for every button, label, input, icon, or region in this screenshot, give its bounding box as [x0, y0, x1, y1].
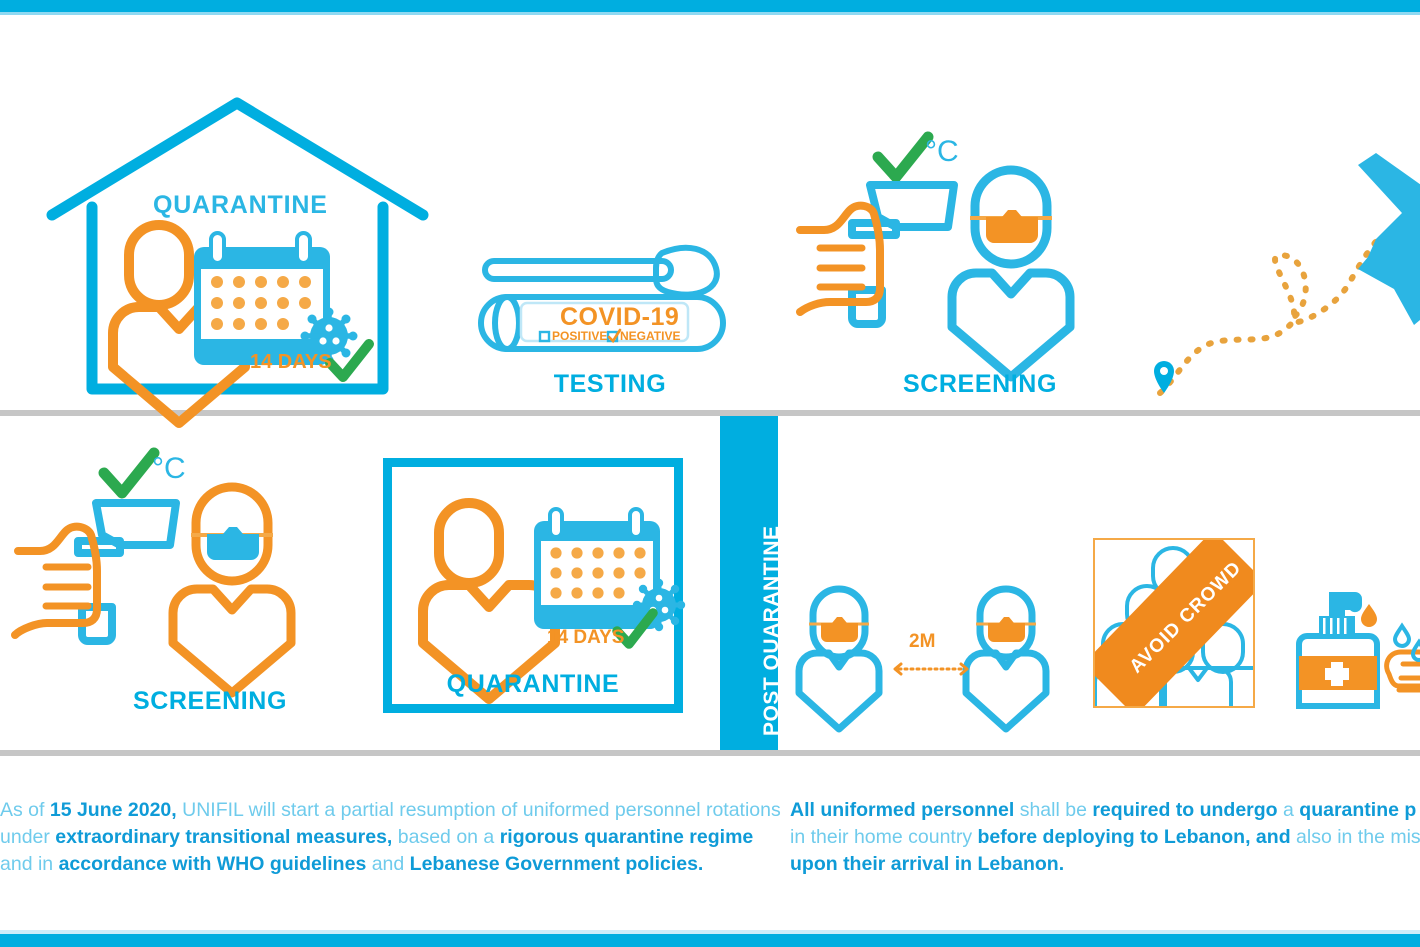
celsius-label-bottom: °C — [152, 452, 186, 486]
sanitizer-bottle-icon — [1299, 592, 1377, 706]
bottom-brand-bar — [0, 934, 1420, 947]
check-icon — [878, 137, 928, 177]
thermometer-gun-icon — [15, 503, 176, 641]
paragraph-line: in their home country before deploying t… — [790, 824, 1420, 851]
hygiene-group — [1285, 578, 1420, 708]
text-regular: shall be — [1014, 799, 1092, 821]
paragraph-line: under extraordinary transitional measure… — [0, 824, 781, 851]
text-regular: UNIFIL will start a partial resumption o… — [177, 799, 781, 821]
quarantine-house-group: QUARANTINE 14 DAYS — [45, 95, 435, 395]
face-mask-icon — [207, 527, 259, 560]
text-strong: upon their arrival in Lebanon. — [790, 853, 1064, 875]
celsius-label: °C — [925, 135, 959, 169]
house-days-label: 14 DAYS — [250, 351, 332, 374]
dotted-flight-path-icon — [1160, 235, 1382, 393]
calendar-icon — [194, 233, 330, 365]
text-regular: and — [366, 853, 409, 875]
text-regular: also in the mission — [1291, 826, 1420, 848]
airplane-icon — [1358, 153, 1420, 325]
top-brand-bar — [0, 0, 1420, 12]
post-quarantine-label: POST QUARANTINE — [760, 525, 784, 736]
option-negative-label: NEGATIVE — [620, 329, 680, 343]
map-pin-icon — [1154, 361, 1174, 393]
text-strong: accordance with WHO guidelines — [59, 853, 367, 875]
row-divider-top — [0, 410, 1420, 416]
top-brand-bar-accent — [0, 12, 1420, 15]
option-positive-label: POSITIVE — [552, 329, 607, 343]
face-mask-icon — [986, 210, 1038, 243]
left-paragraph: As of 15 June 2020, UNIFIL will start a … — [0, 797, 781, 878]
text-strong: 15 June 2020, — [50, 799, 177, 821]
quarantine-box-days-label: 14 DAYS — [547, 627, 624, 649]
text-strong: rigorous quarantine regime — [500, 826, 754, 848]
text-strong: Lebanese Government policies. — [410, 853, 704, 875]
quarantine-box-caption: QUARANTINE — [392, 670, 674, 699]
distancing-group: 2M — [795, 583, 1070, 703]
testing-group: COVID-19 POSITIVE NEGATIVE TESTING — [485, 245, 735, 355]
masked-person-icon — [799, 589, 879, 729]
testing-caption: TESTING — [485, 370, 735, 399]
text-regular: under — [0, 826, 55, 848]
face-mask-icon — [988, 617, 1025, 642]
avoid-crowd-panel: AVOID CROWD — [1093, 538, 1255, 708]
paragraph-line: All uniformed personnel shall be require… — [790, 797, 1420, 824]
right-paragraph: All uniformed personnel shall be require… — [790, 797, 1420, 878]
droplet-icon — [1361, 604, 1377, 627]
covid-brand-label: COVID-19 — [560, 303, 679, 332]
face-mask-icon — [821, 617, 858, 642]
text-strong: extraordinary transitional measures, — [55, 826, 392, 848]
screening-caption-bottom: SCREENING — [100, 687, 320, 716]
masked-person-icon — [173, 487, 291, 693]
checkbox-positive — [540, 332, 549, 341]
thermometer-gun-icon — [800, 185, 954, 324]
screening-group-top: °C SCREENING — [800, 135, 1100, 365]
row-divider-bottom — [0, 750, 1420, 756]
text-regular: and in — [0, 853, 59, 875]
paragraph-line: and in accordance with WHO guidelines an… — [0, 851, 781, 878]
text-regular: a — [1278, 799, 1300, 821]
text-regular: based on a — [392, 826, 499, 848]
text-strong: required to undergo — [1092, 799, 1277, 821]
masked-person-icon — [966, 589, 1046, 729]
text-regular: As of — [0, 799, 50, 821]
post-quarantine-banner: POST QUARANTINE — [720, 416, 778, 750]
screening-caption-top: SCREENING — [870, 370, 1090, 399]
quarantine-box: 14 DAYS QUARANTINE — [383, 458, 683, 713]
dotted-double-arrow-icon — [895, 664, 967, 674]
swab-icon — [485, 248, 717, 295]
text-strong: All uniformed personnel — [790, 799, 1014, 821]
screening-group-bottom: °C SCREENING — [0, 447, 330, 677]
infographic-canvas: QUARANTINE 14 DAYS COVID-19 POSIT — [0, 0, 1420, 947]
text-strong: before deploying to Lebanon, and — [978, 826, 1291, 848]
travel-group — [1130, 135, 1420, 400]
text-strong: quarantine p — [1299, 799, 1416, 821]
paragraph-line: upon their arrival in Lebanon. — [790, 851, 1420, 878]
distance-label: 2M — [909, 631, 935, 653]
droplet-icon — [1395, 626, 1420, 660]
calendar-icon — [534, 509, 660, 629]
text-regular: in their home country — [790, 826, 978, 848]
house-quarantine-label: QUARANTINE — [153, 191, 328, 220]
check-icon — [104, 453, 154, 493]
paragraph-line: As of 15 June 2020, UNIFIL will start a … — [0, 797, 781, 824]
masked-person-icon — [952, 170, 1070, 377]
